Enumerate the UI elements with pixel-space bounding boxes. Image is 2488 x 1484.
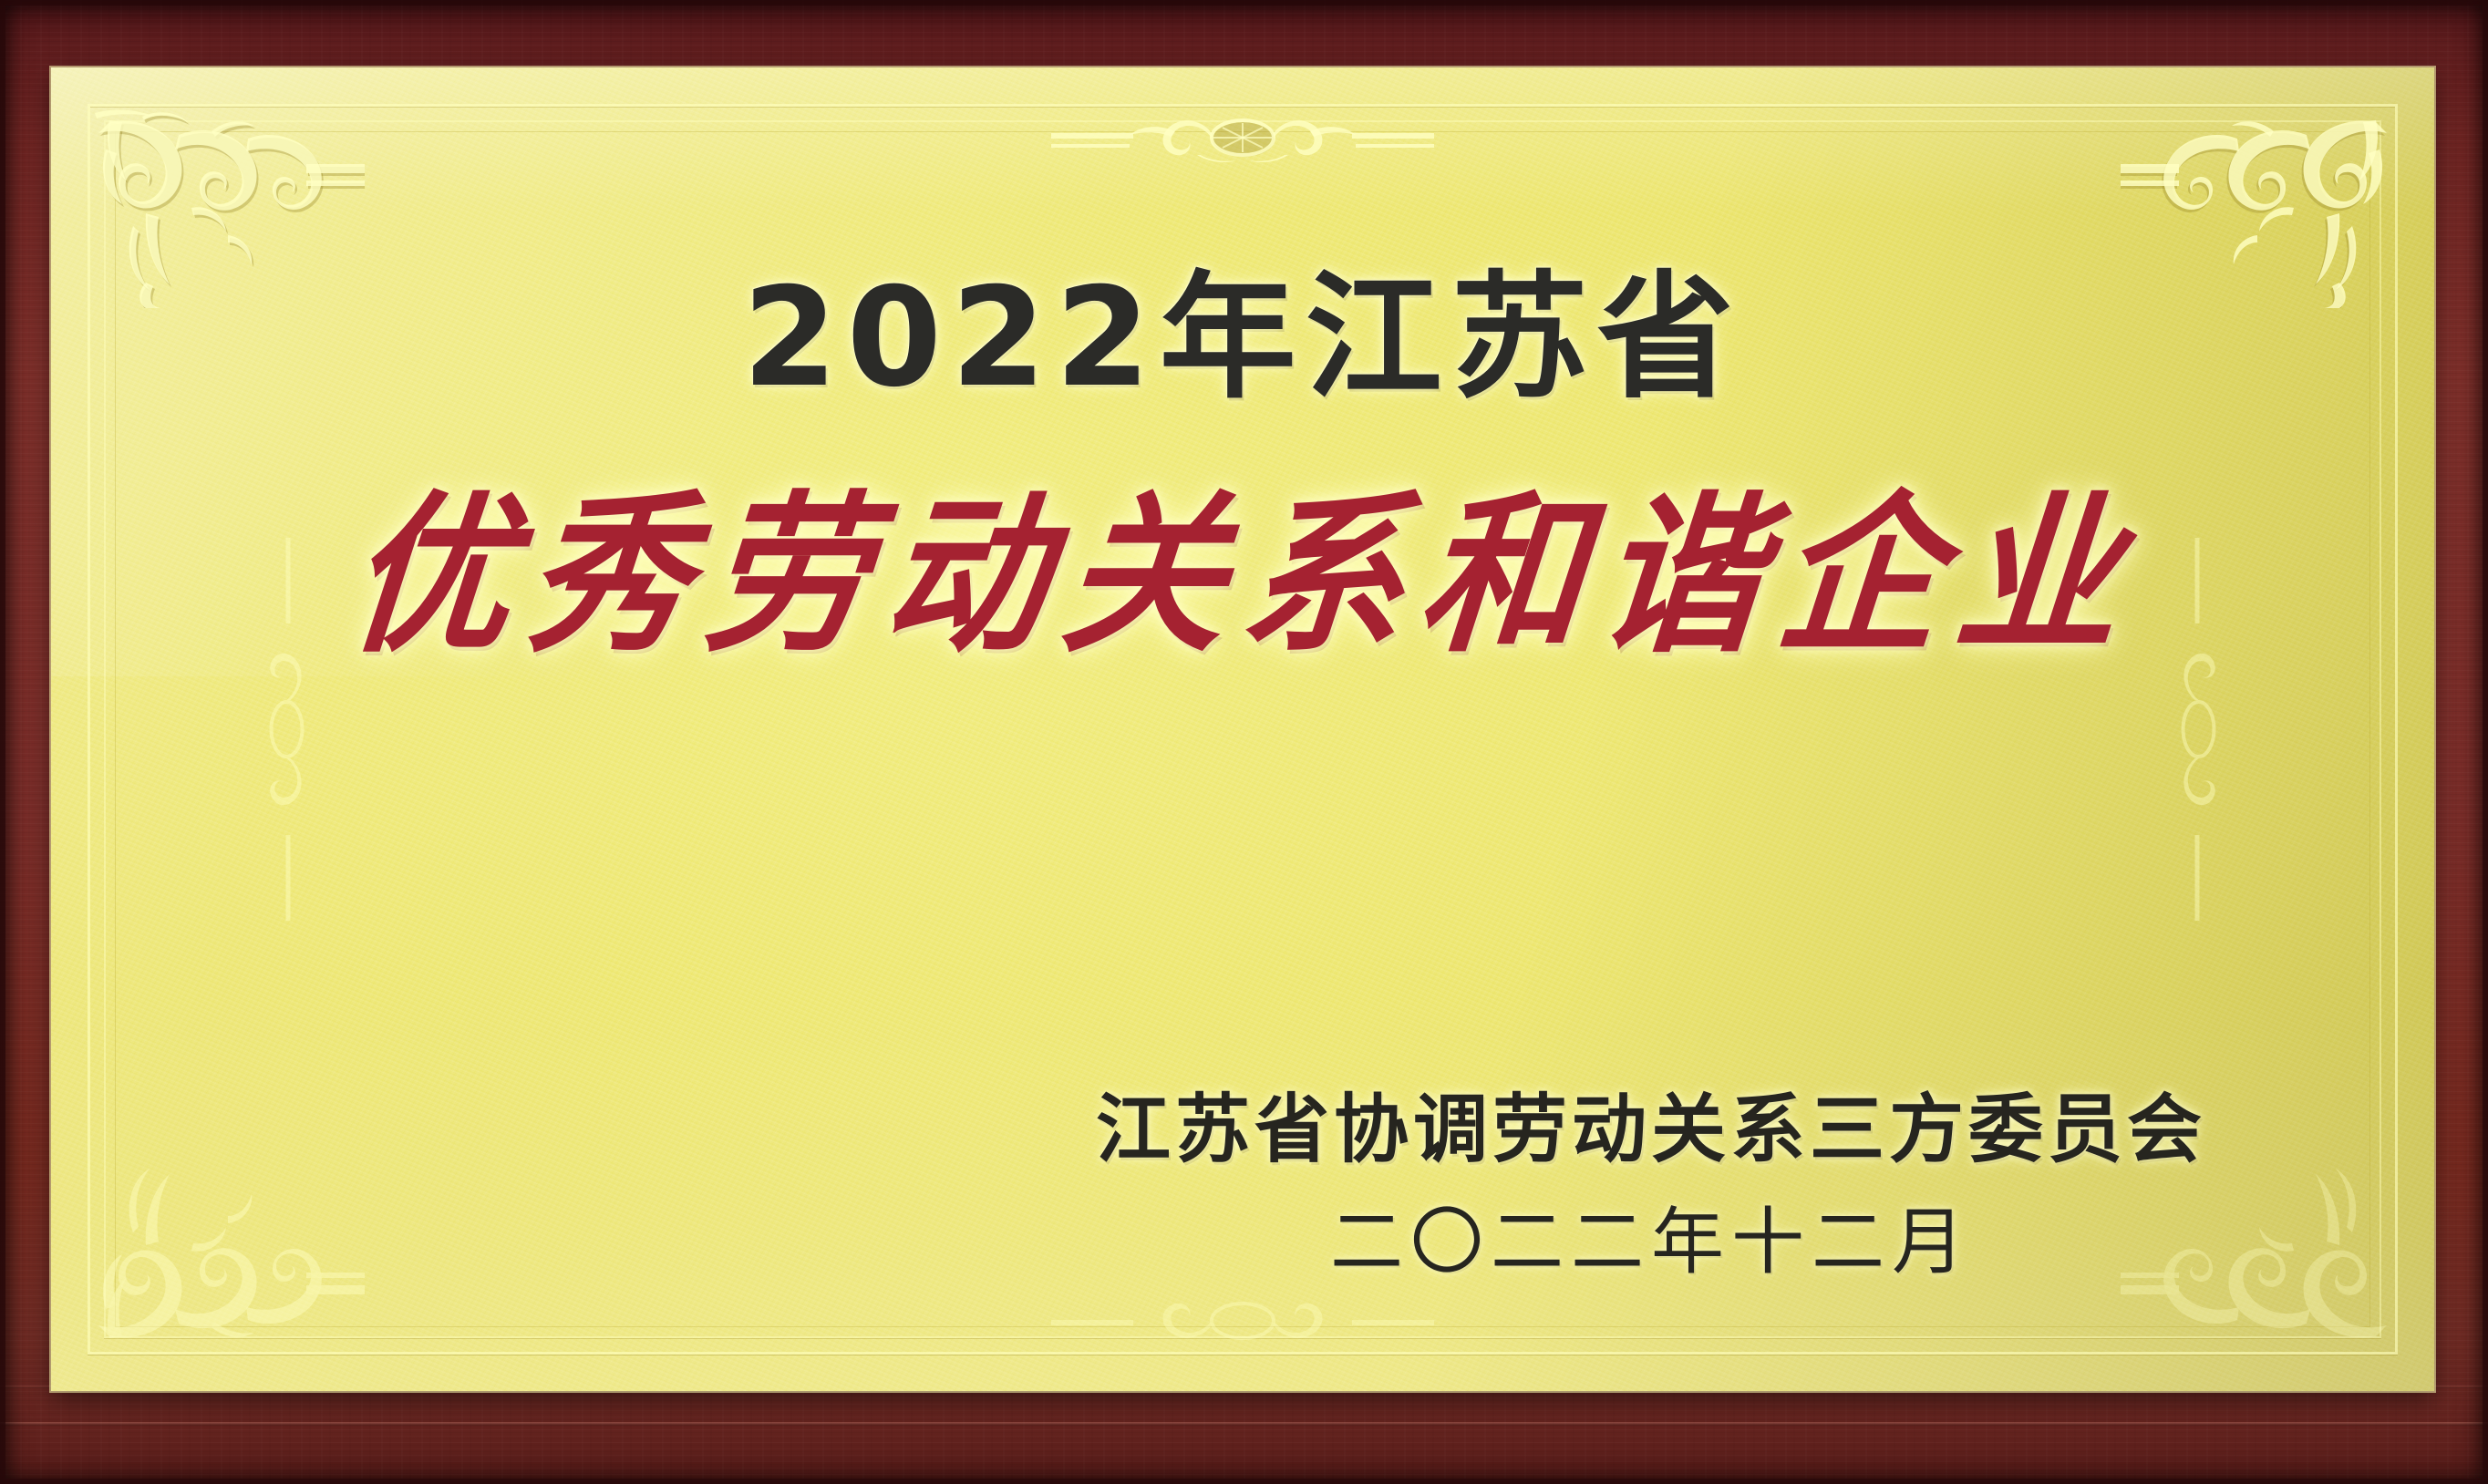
plaque-title: 2022年江苏省: [742, 270, 1742, 407]
plaque-headline: 优秀劳动关系和谐企业: [342, 490, 2144, 662]
plaque-stage: 2022年江苏省 优秀劳动关系和谐企业 江苏省协调劳动关系三方委员会 二〇二二年…: [0, 0, 2488, 1484]
plaque-signoff: 江苏省协调劳动关系三方委员会 二〇二二年十二月: [1096, 1087, 2206, 1286]
issue-date: 二〇二二年十二月: [1096, 1199, 2206, 1286]
plaque-content: 2022年江苏省 优秀劳动关系和谐企业 江苏省协调劳动关系三方委员会 二〇二二年…: [51, 67, 2434, 1391]
frame-seam-lower: [0, 1422, 2488, 1426]
gold-plate: 2022年江苏省 优秀劳动关系和谐企业 江苏省协调劳动关系三方委员会 二〇二二年…: [51, 67, 2434, 1391]
issuing-organization: 江苏省协调劳动关系三方委员会: [1096, 1087, 2206, 1175]
